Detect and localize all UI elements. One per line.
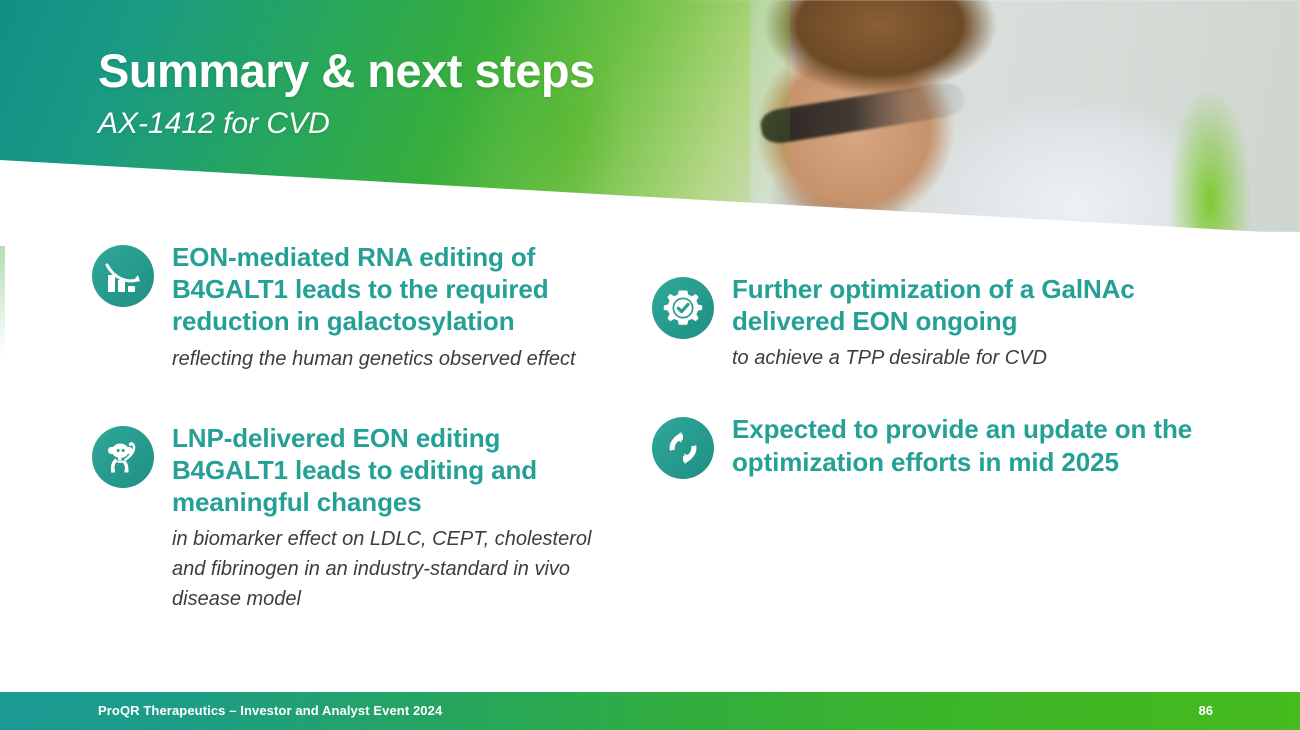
bullet-subtext: in biomarker effect on LDLC, CEPT, chole… xyxy=(172,524,600,614)
bullet-item: LNP-delivered EON editing B4GALT1 leads … xyxy=(92,422,600,615)
bullet-columns: EON-mediated RNA editing of B4GALT1 lead… xyxy=(0,232,1300,614)
left-column: EON-mediated RNA editing of B4GALT1 lead… xyxy=(0,232,600,614)
bar-chart-decline-icon xyxy=(92,245,154,307)
gear-check-icon xyxy=(652,277,714,339)
slide-header: Summary & next steps AX-1412 for CVD xyxy=(0,0,1300,232)
footer-event-label: ProQR Therapeutics – Investor and Analys… xyxy=(98,703,442,718)
page-subtitle: AX-1412 for CVD xyxy=(98,107,595,140)
monkey-icon xyxy=(92,426,154,488)
page-title: Summary & next steps xyxy=(98,46,595,95)
bullet-heading: EON-mediated RNA editing of B4GALT1 lead… xyxy=(172,241,600,338)
refresh-cycle-icon xyxy=(652,417,714,479)
bullet-item: Further optimization of a GalNAc deliver… xyxy=(652,273,1240,373)
bullet-item: Expected to provide an update on the opt… xyxy=(652,413,1240,483)
right-column: Further optimization of a GalNAc deliver… xyxy=(600,232,1240,614)
page-number: 86 xyxy=(1199,703,1213,718)
presentation-slide: Summary & next steps AX-1412 for CVD xyxy=(0,0,1300,730)
slide-footer: ProQR Therapeutics – Investor and Analys… xyxy=(0,692,1300,730)
bullet-body: LNP-delivered EON editing B4GALT1 leads … xyxy=(172,422,600,615)
bullet-subtext: to achieve a TPP desirable for CVD xyxy=(732,343,1240,373)
header-text-block: Summary & next steps AX-1412 for CVD xyxy=(98,46,595,140)
slide-body: EON-mediated RNA editing of B4GALT1 lead… xyxy=(0,232,1300,692)
bullet-heading: Expected to provide an update on the opt… xyxy=(732,413,1240,477)
bullet-body: Expected to provide an update on the opt… xyxy=(732,413,1240,483)
bullet-heading: Further optimization of a GalNAc deliver… xyxy=(732,273,1240,337)
bullet-item: EON-mediated RNA editing of B4GALT1 lead… xyxy=(92,241,600,374)
bullet-body: EON-mediated RNA editing of B4GALT1 lead… xyxy=(172,241,600,374)
bullet-heading: LNP-delivered EON editing B4GALT1 leads … xyxy=(172,422,600,519)
bullet-body: Further optimization of a GalNAc deliver… xyxy=(732,273,1240,373)
bullet-subtext: reflecting the human genetics observed e… xyxy=(172,344,600,374)
